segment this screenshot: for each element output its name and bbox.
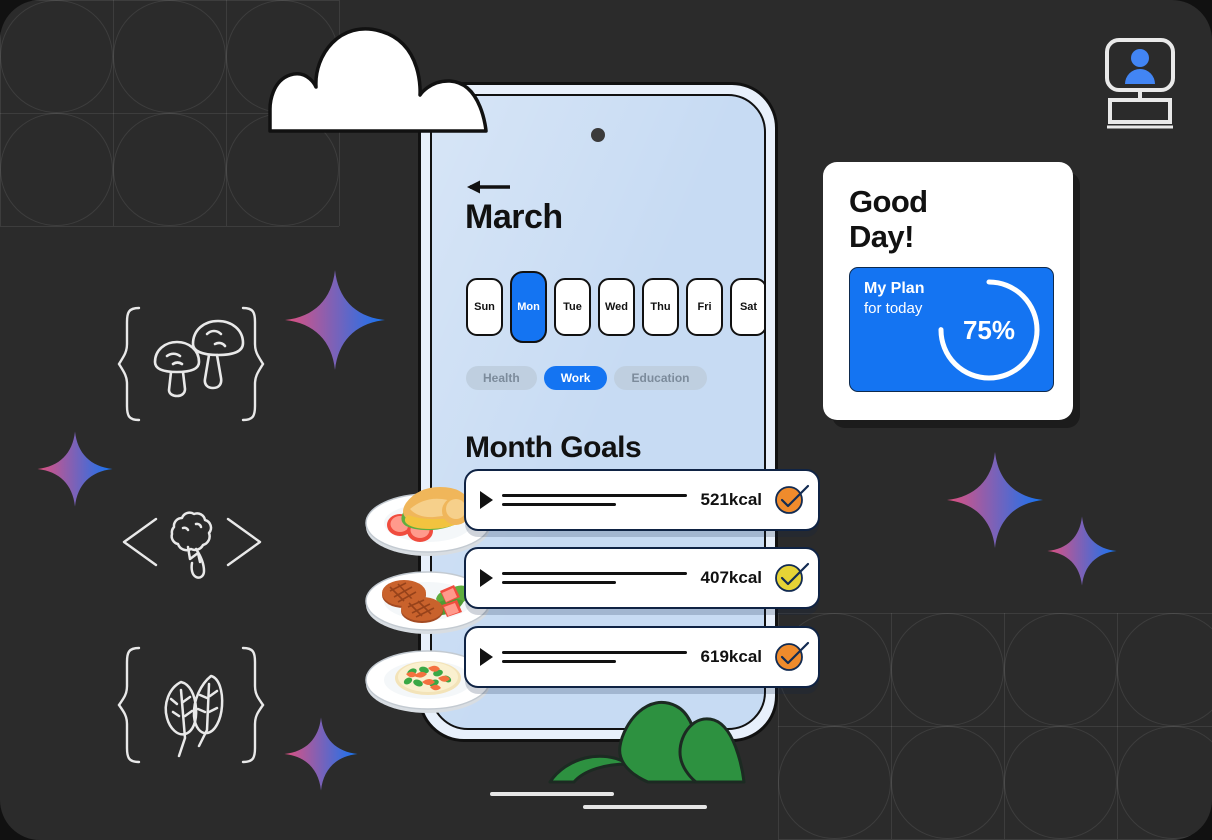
goal-row[interactable]: 619kcal [364, 626, 884, 690]
play-triangle-icon[interactable] [480, 491, 493, 509]
category-chip-education[interactable]: Education [614, 366, 706, 390]
day-pill-label: Sun [474, 301, 495, 313]
play-triangle-icon[interactable] [480, 648, 493, 666]
ground-line [583, 805, 707, 809]
placeholder-line [502, 581, 616, 584]
day-pill-label: Thu [650, 301, 670, 313]
presentation-person-icon [1103, 38, 1177, 135]
goal-card[interactable]: 407kcal [464, 547, 820, 609]
day-pill-thu[interactable]: Thu [642, 278, 679, 336]
four-point-star-icon [283, 716, 359, 797]
goal-calories-value: 521kcal [701, 490, 762, 510]
day-pill-label: Tue [563, 301, 582, 313]
good-day-title-line1: Good [849, 184, 928, 219]
four-point-star-icon [945, 450, 1045, 555]
four-point-star-icon [1046, 515, 1118, 592]
goal-calories-value: 619kcal [701, 647, 762, 667]
check-circle-icon[interactable] [774, 563, 804, 593]
goal-text-placeholder-lines [502, 651, 687, 663]
check-circle-icon[interactable] [774, 485, 804, 515]
page-title: March [465, 198, 563, 237]
section-heading-month-goals: Month Goals [465, 431, 641, 465]
play-triangle-icon[interactable] [480, 569, 493, 587]
placeholder-line [502, 660, 616, 663]
goal-card[interactable]: 619kcal [464, 626, 820, 688]
category-chip-work[interactable]: Work [544, 366, 608, 390]
four-point-star-icon [36, 430, 114, 513]
day-selector[interactable]: SunMonTueWedThuFriSat [466, 271, 766, 343]
placeholder-line [502, 503, 616, 506]
progress-ring-label: 75% [933, 274, 1045, 386]
my-plan-subtitle: for today [864, 300, 922, 317]
good-day-title: Good Day! [849, 184, 928, 255]
category-chip-label: Education [631, 371, 689, 385]
progress-ring: 75% [933, 274, 1045, 386]
cloud-shape [264, 25, 492, 142]
category-chip-label: Health [483, 371, 520, 385]
placeholder-line [502, 651, 687, 654]
ground-line [490, 792, 614, 796]
goal-card[interactable]: 521kcal [464, 469, 820, 531]
camera-dot [591, 128, 605, 142]
goal-calories-value: 407kcal [701, 568, 762, 588]
day-pill-label: Wed [605, 301, 628, 313]
good-day-card: Good Day! My Plan for today 75% [823, 162, 1073, 420]
placeholder-line [502, 494, 687, 497]
four-point-star-icon [283, 268, 387, 377]
illustration-canvas: March SunMonTueWedThuFriSat HealthWorkEd… [0, 0, 1212, 840]
category-filter-row[interactable]: HealthWorkEducation [466, 366, 707, 390]
leaf-plant-shape [548, 690, 746, 791]
day-pill-sun[interactable]: Sun [466, 278, 503, 336]
category-chip-health[interactable]: Health [466, 366, 537, 390]
day-pill-label: Mon [517, 301, 540, 313]
decor-broccoli-group [112, 495, 272, 585]
day-pill-sat[interactable]: Sat [730, 278, 766, 336]
goal-row[interactable]: 521kcal [364, 469, 884, 533]
check-circle-icon[interactable] [774, 642, 804, 672]
my-plan-title: My Plan [864, 280, 924, 298]
goal-row[interactable]: 407kcal [364, 547, 884, 611]
day-pill-label: Fri [697, 301, 711, 313]
category-chip-label: Work [561, 371, 591, 385]
good-day-title-line2: Day! [849, 219, 928, 254]
day-pill-wed[interactable]: Wed [598, 278, 635, 336]
decor-mushroom-group [115, 300, 267, 428]
day-pill-mon[interactable]: Mon [510, 271, 547, 343]
day-pill-fri[interactable]: Fri [686, 278, 723, 336]
my-plan-widget[interactable]: My Plan for today 75% [849, 267, 1054, 392]
day-pill-label: Sat [740, 301, 757, 313]
goal-text-placeholder-lines [502, 494, 687, 506]
placeholder-line [502, 572, 687, 575]
day-pill-tue[interactable]: Tue [554, 278, 591, 336]
goal-text-placeholder-lines [502, 572, 687, 584]
decor-spinach-group [115, 640, 267, 770]
